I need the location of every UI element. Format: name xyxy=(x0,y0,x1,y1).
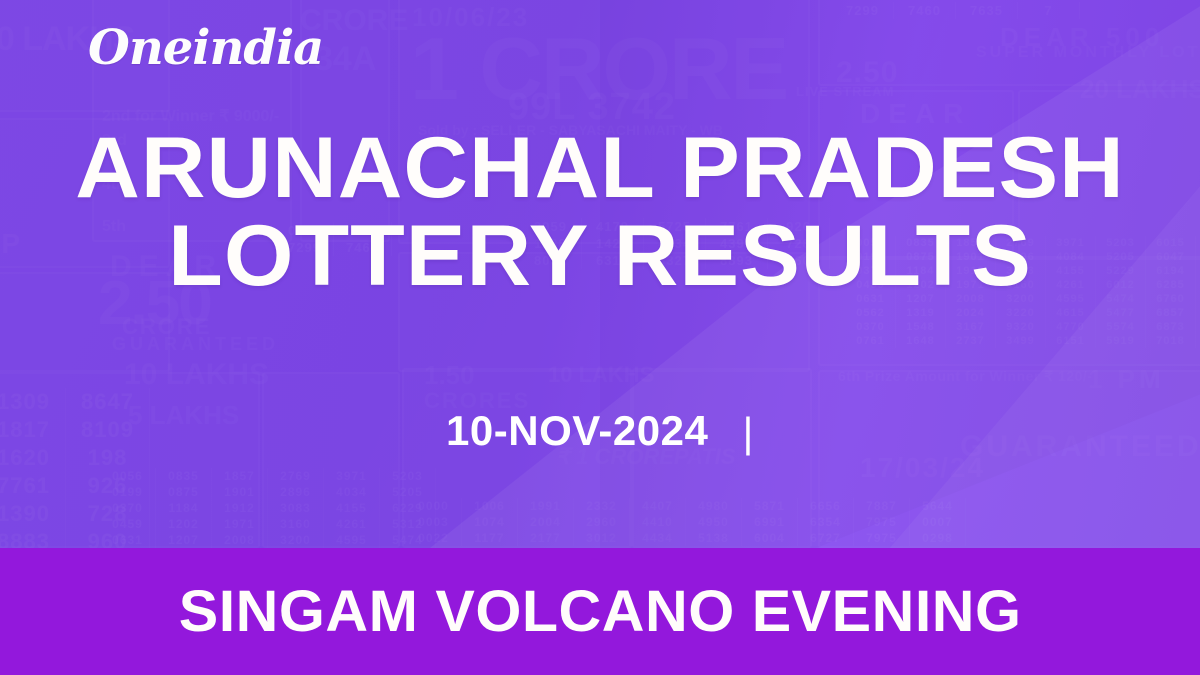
draw-name-banner: SINGAM VOLCANO EVENING xyxy=(0,548,1200,675)
result-date: 10-NOV-2024 xyxy=(446,407,708,454)
page-title-line-1: ARUNACHAL PRADESH xyxy=(0,124,1200,212)
date-separator: | xyxy=(743,408,754,458)
draw-name-label: SINGAM VOLCANO EVENING xyxy=(179,582,1022,642)
page-title-line-2: LOTTERY RESULTS xyxy=(0,212,1200,300)
lottery-result-card: 50 LAKHS CRORE 34A 10/06/23 1 CRORE 99L … xyxy=(0,0,1200,675)
result-date-row: 10-NOV-2024 | xyxy=(0,406,1200,456)
oneindia-logo[interactable]: Oneindia xyxy=(88,24,323,72)
page-title: ARUNACHAL PRADESH LOTTERY RESULTS xyxy=(0,124,1200,300)
hero-section: Oneindia ARUNACHAL PRADESH LOTTERY RESUL… xyxy=(0,0,1200,548)
